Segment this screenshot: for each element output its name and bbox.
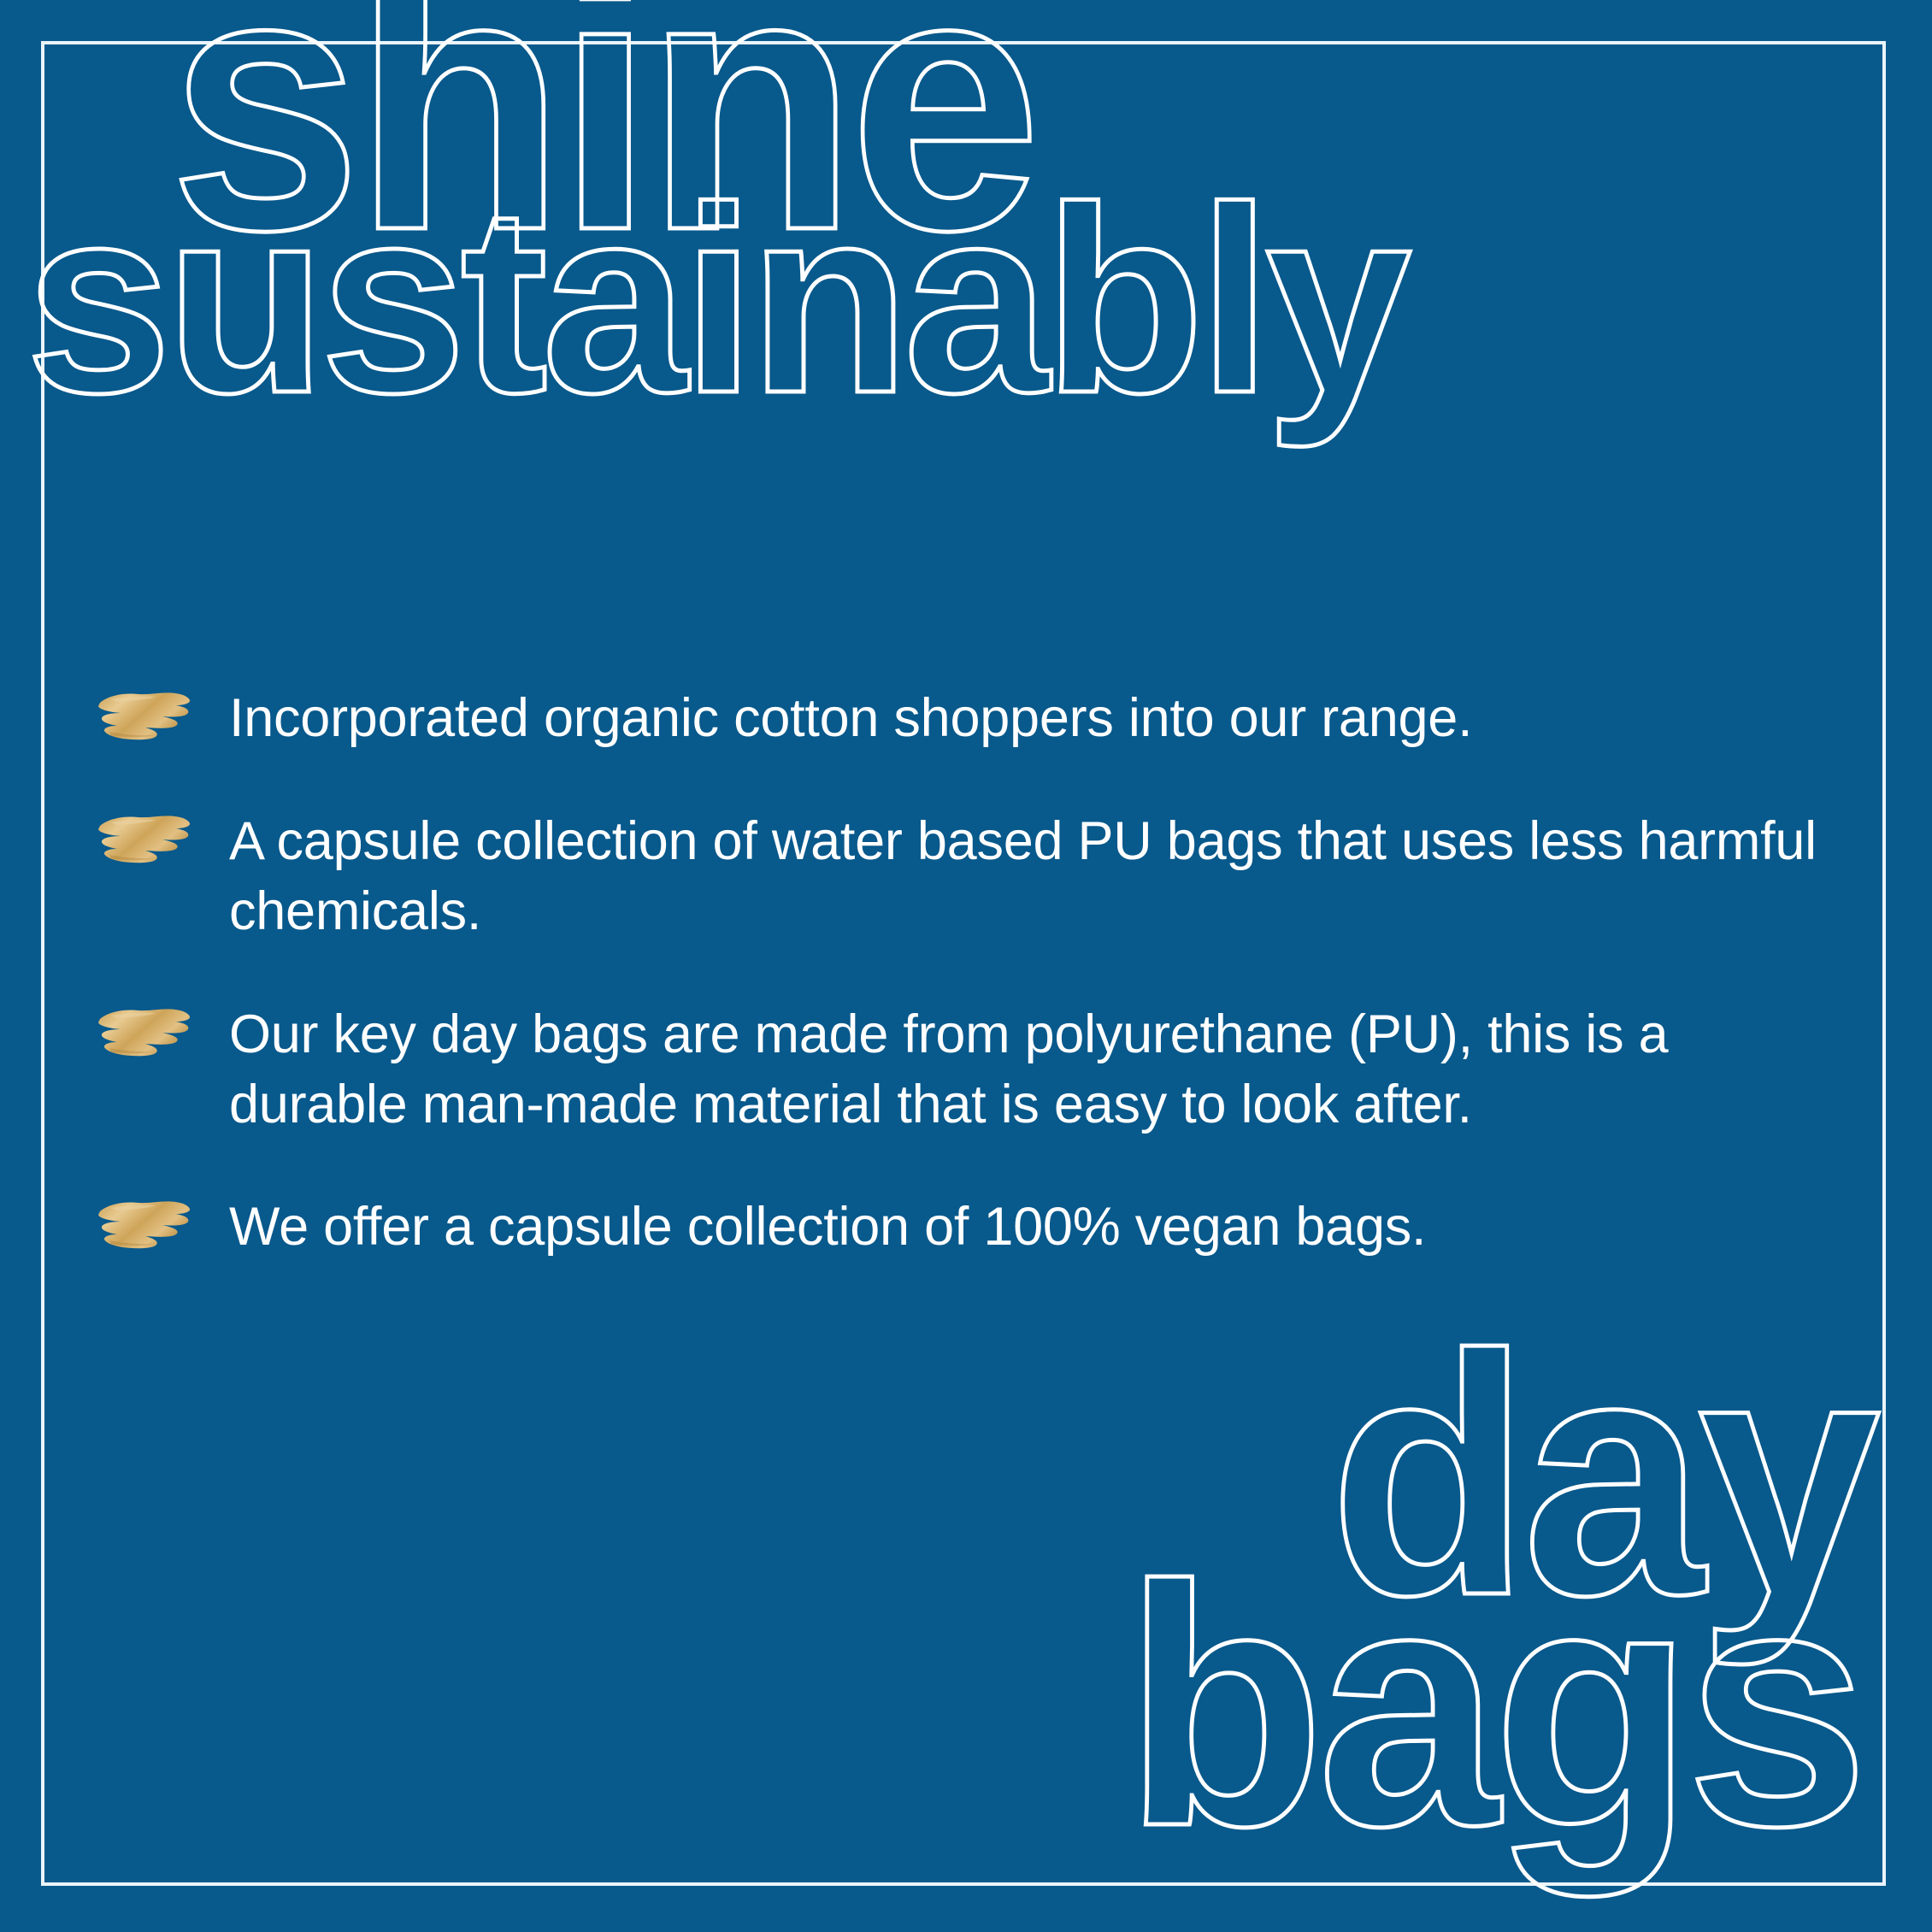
list-item-text: Our key day bags are made from polyureth… — [229, 1000, 1821, 1140]
list-item: We offer a capsule collection of 100% ve… — [94, 1193, 1821, 1263]
gold-brushstroke-icon — [94, 689, 195, 745]
list-item: Incorporated organic cotton shoppers int… — [94, 684, 1821, 754]
list-item-text: A capsule collection of water based PU b… — [229, 807, 1821, 947]
headline-line-2: sustainably — [26, 197, 1405, 403]
list-item-text: Incorporated organic cotton shoppers int… — [229, 684, 1821, 754]
gold-brushstroke-icon — [94, 812, 195, 869]
list-item: Our key day bags are made from polyureth… — [94, 1000, 1821, 1140]
poster-canvas: shine sustainably — [0, 0, 1932, 1932]
list-item: A capsule collection of water based PU b… — [94, 807, 1821, 947]
list-item-text: We offer a capsule collection of 100% ve… — [229, 1193, 1821, 1263]
gold-brushstroke-icon — [94, 1198, 195, 1254]
benefits-list: Incorporated organic cotton shoppers int… — [94, 684, 1821, 1316]
gold-brushstroke-icon — [94, 1005, 195, 1062]
footer-headline-line-2: bags — [1124, 1573, 1861, 1840]
